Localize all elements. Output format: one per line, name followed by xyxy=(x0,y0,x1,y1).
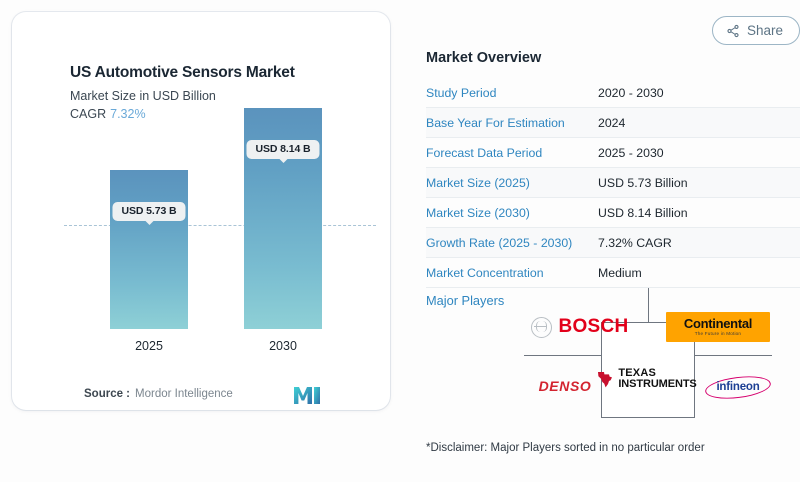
share-button-label: Share xyxy=(747,23,783,38)
cagr-value: 7.32% xyxy=(110,107,145,121)
row-key: Growth Rate (2025 - 2030) xyxy=(426,236,598,250)
continental-wordmark: Continental xyxy=(684,317,752,330)
texas-state-icon xyxy=(597,371,613,388)
chart-subtitle: Market Size in USD Billion xyxy=(70,89,216,103)
table-row: Market Size (2025) USD 5.73 Billion xyxy=(426,168,800,198)
connector-line-right xyxy=(692,355,772,356)
source-label: Source : xyxy=(84,388,130,400)
table-row: Market Concentration Medium xyxy=(426,258,800,288)
source-row: Source : Mordor Intelligence xyxy=(84,388,233,400)
bar-label-2030: USD 8.14 B xyxy=(246,140,319,159)
bar-label-2025: USD 5.73 B xyxy=(112,202,185,221)
row-value: Medium xyxy=(598,266,642,280)
row-key: Study Period xyxy=(426,86,598,100)
infineon-logo[interactable]: infineon xyxy=(698,372,778,402)
bosch-mark-icon xyxy=(531,317,552,338)
row-key: Market Size (2030) xyxy=(426,206,598,220)
bosch-logo[interactable]: BOSCH xyxy=(520,310,640,344)
x-tick-2030: 2030 xyxy=(269,339,297,353)
row-key: Base Year For Estimation xyxy=(426,116,598,130)
table-row: Growth Rate (2025 - 2030) 7.32% CAGR xyxy=(426,228,800,258)
table-row: Market Size (2030) USD 8.14 Billion xyxy=(426,198,800,228)
market-overview-table: Study Period 2020 - 2030 Base Year For E… xyxy=(426,78,800,288)
texas-instruments-logo[interactable]: TEXAS INSTRUMENTS xyxy=(602,356,692,402)
row-key: Market Size (2025) xyxy=(426,176,598,190)
ti-line2: INSTRUMENTS xyxy=(618,379,696,390)
row-value: 2025 - 2030 xyxy=(598,146,664,160)
infineon-wordmark: infineon xyxy=(716,381,759,393)
continental-logo[interactable]: Continental The Future in Motion xyxy=(666,310,770,344)
cagr-label: CAGR xyxy=(70,107,106,121)
table-row: Base Year For Estimation 2024 xyxy=(426,108,800,138)
row-value: 7.32% CAGR xyxy=(598,236,672,250)
share-button[interactable]: Share xyxy=(712,16,800,45)
players-disclaimer: *Disclaimer: Major Players sorted in no … xyxy=(426,442,705,454)
mordor-intelligence-logo xyxy=(294,387,320,404)
continental-tagline: The Future in Motion xyxy=(695,332,741,337)
ti-text: TEXAS INSTRUMENTS xyxy=(618,368,696,391)
share-icon xyxy=(726,24,740,38)
bar-2025[interactable] xyxy=(110,170,188,329)
row-value: USD 8.14 Billion xyxy=(598,206,688,220)
bar-chart-plot: USD 5.73 B USD 8.14 B 2025 2030 xyxy=(70,132,370,367)
infineon-wrap: infineon xyxy=(705,374,771,400)
page-root: US Automotive Sensors Market Market Size… xyxy=(0,0,800,482)
market-overview-title: Market Overview xyxy=(426,50,541,66)
bosch-wordmark: BOSCH xyxy=(558,316,628,338)
right-panel: Share Market Overview Study Period 2020 … xyxy=(410,0,800,482)
row-value: 2020 - 2030 xyxy=(598,86,664,100)
denso-wordmark: DENSO xyxy=(539,378,592,394)
chart-title: US Automotive Sensors Market xyxy=(70,64,295,82)
row-value: 2024 xyxy=(598,116,625,130)
table-row: Forecast Data Period 2025 - 2030 xyxy=(426,138,800,168)
continental-badge: Continental The Future in Motion xyxy=(666,312,770,342)
x-tick-2025: 2025 xyxy=(135,339,163,353)
major-players-diagram: BOSCH Continental The Future in Motion D… xyxy=(426,288,800,418)
table-row: Study Period 2020 - 2030 xyxy=(426,78,800,108)
row-key: Market Concentration xyxy=(426,266,598,280)
source-name: Mordor Intelligence xyxy=(135,388,233,400)
ti-wrap: TEXAS INSTRUMENTS xyxy=(597,368,696,391)
chart-card: US Automotive Sensors Market Market Size… xyxy=(12,12,390,410)
row-value: USD 5.73 Billion xyxy=(598,176,688,190)
connector-line-left xyxy=(524,355,602,356)
row-key: Forecast Data Period xyxy=(426,146,598,160)
cagr-row: CAGR7.32% xyxy=(70,107,146,121)
